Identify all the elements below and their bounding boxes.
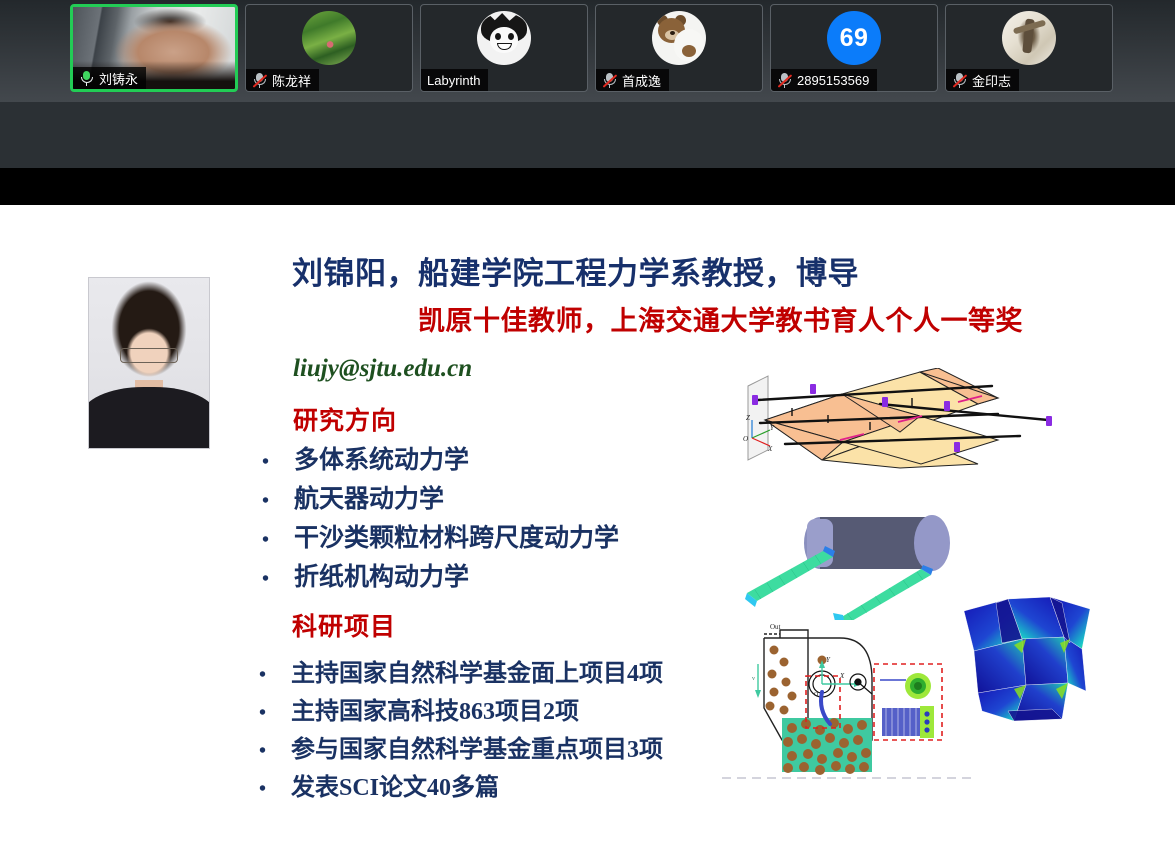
screen-root: 刘铸永 陈龙祥: [0, 0, 1175, 857]
slide-subtitle: 凯原十佳教师，上海交通大学教书育人个人一等奖: [418, 299, 1023, 338]
participant-name: 首成逸: [622, 71, 661, 90]
microphone-muted-icon: [252, 72, 267, 88]
list-item: • 干沙类颗粒材料跨尺度动力学: [262, 518, 619, 557]
participant-name-bar: 2895153569: [771, 69, 877, 91]
microphone-muted-icon: [777, 72, 792, 88]
list-item-label: 多体系统动力学: [294, 440, 469, 476]
list-item-label: 折纸机构动力学: [294, 557, 469, 593]
list-item-label: 主持国家自然科学基金面上项目4项: [291, 653, 663, 688]
participant-name: 2895153569: [797, 73, 869, 88]
bullet-icon: •: [259, 664, 291, 687]
bullet-icon: •: [262, 529, 294, 552]
bullet-icon: •: [259, 702, 291, 725]
participant-name: 陈龙祥: [272, 71, 311, 90]
participant-tile[interactable]: 首成逸: [595, 4, 763, 92]
microphone-muted-icon: [602, 72, 617, 88]
list-item: • 参与国家自然科学基金重点项目3项: [259, 729, 663, 767]
participant-name-bar: 金印志: [946, 69, 1019, 91]
list-item: • 主持国家高科技863项目2项: [259, 691, 663, 729]
presenter-portrait-photo: [88, 277, 210, 449]
bullet-icon: •: [259, 778, 291, 801]
section-heading-research-areas: 研究方向: [293, 401, 397, 437]
list-item: • 航天器动力学: [262, 479, 619, 518]
participant-name-bar: 陈龙祥: [246, 69, 319, 91]
microphone-on-icon: [79, 70, 94, 86]
origami-fea-stress-plot: [952, 593, 1102, 738]
svg-text:v: v: [752, 676, 755, 682]
avatar: [1002, 11, 1056, 65]
microphone-muted-icon: [952, 72, 967, 88]
list-item: • 多体系统动力学: [262, 440, 619, 479]
participant-name: Labyrinth: [427, 73, 480, 88]
list-item-label: 主持国家高科技863项目2项: [291, 691, 579, 726]
bullet-icon: •: [262, 451, 294, 474]
svg-text:X: X: [767, 445, 773, 453]
participant-name-bar: 刘铸永: [73, 67, 146, 89]
slide-title: 刘锦阳，船建学院工程力学系教授，博导: [292, 248, 859, 293]
participant-tile[interactable]: Labyrinth: [420, 4, 588, 92]
avatar: [477, 11, 531, 65]
list-item-label: 干沙类颗粒材料跨尺度动力学: [294, 518, 619, 554]
list-item: • 主持国家自然科学基金面上项目4项: [259, 653, 663, 691]
avatar: [652, 11, 706, 65]
avatar: 69: [827, 11, 881, 65]
list-item-label: 航天器动力学: [294, 479, 444, 515]
letterbox-band: [0, 168, 1175, 205]
research-projects-list: • 主持国家自然科学基金面上项目4项 • 主持国家高科技863项目2项 • 参与…: [259, 653, 663, 805]
participant-tile[interactable]: 陈龙祥: [245, 4, 413, 92]
shared-slide: 刘锦阳，船建学院工程力学系教授，博导 凯原十佳教师，上海交通大学教书育人个人一等…: [0, 205, 1175, 857]
list-item-label: 发表SCI论文40多篇: [291, 767, 499, 802]
svg-text:Z: Z: [746, 414, 750, 422]
bullet-icon: •: [262, 568, 294, 591]
svg-text:Out: Out: [770, 623, 781, 631]
avatar: [302, 11, 356, 65]
participant-name: 金印志: [972, 71, 1011, 90]
participant-name-bar: 首成逸: [596, 69, 669, 91]
participant-tile[interactable]: 刘铸永: [70, 4, 238, 92]
svg-text:O: O: [814, 692, 819, 698]
participant-tile[interactable]: 金印志: [945, 4, 1113, 92]
origami-accordion-diagram: Z Y X O: [730, 368, 1060, 473]
svg-text:O: O: [743, 435, 748, 443]
participant-tiles: 刘铸永 陈龙祥: [70, 4, 1113, 92]
research-areas-list: • 多体系统动力学 • 航天器动力学 • 干沙类颗粒材料跨尺度动力学 • 折纸机…: [262, 440, 619, 596]
section-heading-research-projects: 科研项目: [292, 607, 396, 643]
participant-name-bar: Labyrinth: [421, 69, 488, 91]
participant-name: 刘铸永: [99, 69, 138, 88]
list-item: • 发表SCI论文40多篇: [259, 767, 663, 805]
list-item: • 折纸机构动力学: [262, 557, 619, 596]
bullet-icon: •: [259, 740, 291, 763]
list-item-label: 参与国家自然科学基金重点项目3项: [291, 729, 663, 764]
participant-tile[interactable]: 69 2895153569: [770, 4, 938, 92]
granular-material-simulation: Out: [722, 620, 972, 785]
bullet-icon: •: [262, 490, 294, 513]
toolbar-band: [0, 102, 1175, 168]
deployable-boom-simulation: [725, 495, 975, 625]
email-text: liujy@sjtu.edu.cn: [293, 355, 472, 383]
video-thumbnail-strip: 刘铸永 陈龙祥: [0, 0, 1175, 102]
